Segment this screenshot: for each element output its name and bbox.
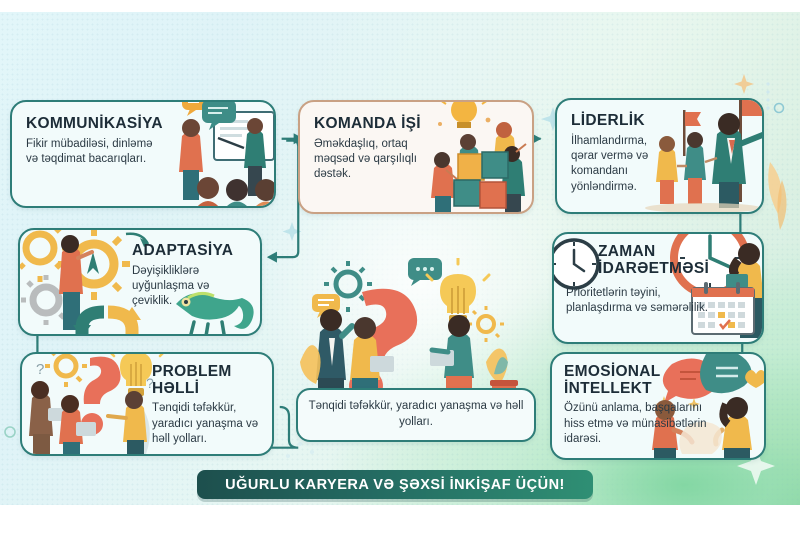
svg-text:?: ? bbox=[36, 361, 44, 378]
card-title: EMOSİONAL İNTELLEKT bbox=[564, 364, 724, 397]
card-title: KOMANDA İŞİ bbox=[314, 116, 430, 133]
card-title: ZAMAN İDARƏETMƏSİ bbox=[598, 244, 728, 277]
infographic-stage: KOMMUNİKASİYA Fikir mübadiləsi, dinləmə … bbox=[0, 0, 800, 533]
card-zaman-idareetmesi[interactable]: ZAMAN İDARƏETMƏSİ Prioritetlərin təyini,… bbox=[552, 232, 764, 344]
center-caption: Tənqidi təfəkkür, yaradıcı yanaşma və hə… bbox=[296, 388, 536, 442]
card-body: Tənqidi təfəkkür, yaradıcı yanaşma və hə… bbox=[152, 401, 266, 447]
card-kommunikasiya[interactable]: KOMMUNİKASİYA Fikir mübadiləsi, dinləmə … bbox=[10, 100, 276, 208]
card-body: Fikir mübadiləsi, dinləmə və təqdimat ba… bbox=[26, 137, 158, 168]
card-problem-helli[interactable]: ? ? bbox=[20, 352, 274, 456]
card-emosional-intellekt[interactable]: EMOSİONAL İNTELLEKT Özünü anlama, başqal… bbox=[550, 352, 766, 460]
card-body: Özünü anlama, başqalarını hiss etmə və m… bbox=[564, 401, 724, 447]
bottom-banner[interactable]: UĞURLU KARYERA VƏ ŞƏXSİ İNKİŞAF ÜÇÜN! bbox=[197, 470, 593, 499]
presentation-speech-icon bbox=[152, 100, 276, 208]
card-adaptasiya[interactable]: ADAPTASİYA Dəyişikliklərə uyğunlaşma və … bbox=[18, 228, 262, 336]
card-body: Dəyişikliklərə uyğunlaşma və çeviklik. bbox=[132, 264, 250, 310]
card-title: ADAPTASİYA bbox=[132, 243, 250, 260]
big-question-mark-icon bbox=[300, 258, 530, 408]
card-body: Prioritetlərin təyini, planlaşdırma və s… bbox=[566, 286, 716, 317]
card-body: İlhamlandırma, qərar vermə və komandanı … bbox=[571, 134, 671, 195]
card-liderlik[interactable]: LİDERLİK İlhamlandırma, qərar vermə və k… bbox=[555, 98, 764, 214]
banner-text: UĞURLU KARYERA VƏ ŞƏXSİ İNKİŞAF ÜÇÜN! bbox=[225, 477, 565, 493]
card-body: Əməkdaşlıq, ortaq məqsəd və qarşılıqlı d… bbox=[314, 137, 430, 183]
card-title: LİDERLİK bbox=[571, 113, 671, 130]
card-title: PROBLEM HƏLLİ bbox=[152, 364, 266, 397]
card-title: KOMMUNİKASİYA bbox=[26, 116, 158, 133]
card-komanda-isi[interactable]: KOMANDA İŞİ Əməkdaşlıq, ortaq məqsəd və … bbox=[298, 100, 534, 214]
